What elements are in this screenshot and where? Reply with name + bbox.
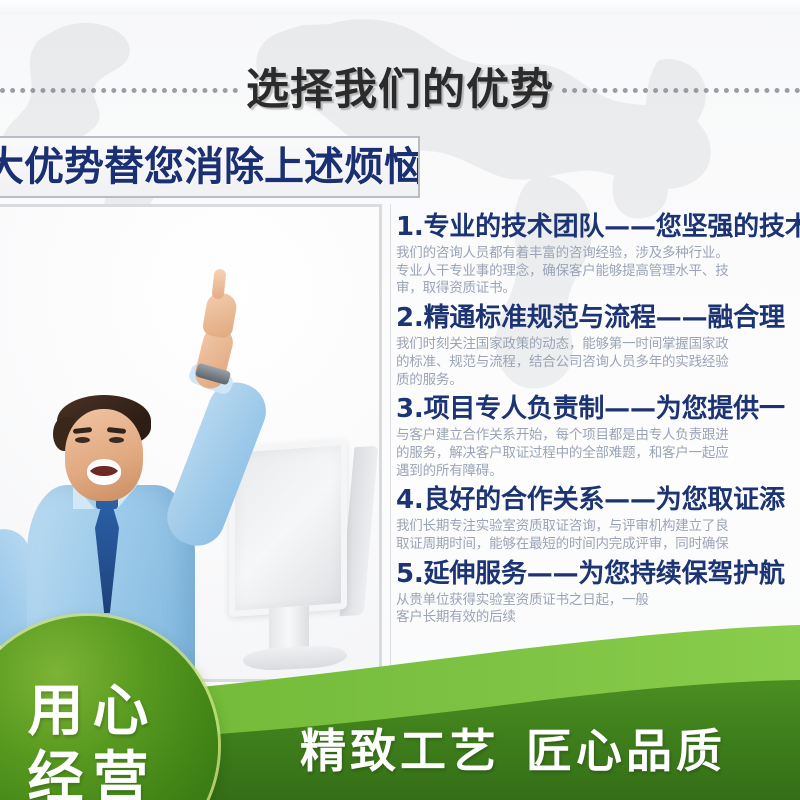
column-divider	[390, 204, 391, 682]
advantages-list: 1.专业的技术团队——您坚强的技术 我们的咨询人员都有着丰富的咨询经验，涉及多种…	[396, 212, 800, 682]
advantage-body: 我们时刻关注国家政策的动态，能够第一时间掌握国家政 的标准、规范与流程，结合公司…	[396, 336, 800, 389]
advantage-heading: 4.良好的合作关系——为您取证添	[396, 485, 800, 517]
list-item: 2.精通标准规范与流程——融合理 我们时刻关注国家政策的动态，能够第一时间掌握国…	[396, 303, 800, 389]
poster-canvas: 选择我们的优势 大优势替您消除上述烦恼	[0, 0, 800, 800]
top-sheen	[0, 0, 800, 14]
header-rule-left	[0, 88, 238, 93]
list-item: 3.项目专人负责制——为您提供一 与客户建立合作关系开始，每个项目都是由专人负责…	[396, 394, 800, 480]
list-item: 5.延伸服务——为您持续保驾护航 从贵单位获得实验室资质证书之日起，一般 客户长…	[396, 559, 800, 627]
list-item: 4.良好的合作关系——为您取证添 我们长期专注实验室资质取证咨询，与评审机构建立…	[396, 485, 800, 553]
slogan-left: 精致工艺	[300, 728, 500, 774]
slogan-right: 匠心品质	[526, 728, 726, 774]
advantage-body: 从贵单位获得实验室资质证书之日起，一般 客户长期有效的后续	[396, 592, 800, 628]
advantage-heading: 3.项目专人负责制——为您提供一	[396, 394, 800, 426]
advantage-heading: 1.专业的技术团队——您坚强的技术	[396, 212, 800, 244]
footer-slogan: 精致工艺 匠心品质	[300, 716, 800, 786]
badge-line-2: 经营	[28, 748, 158, 800]
advantage-heading: 5.延伸服务——为您持续保驾护航	[396, 559, 800, 591]
advantage-body: 我们的咨询人员都有着丰富的咨询经验，涉及多种行业。 专业人干专业事的理念，确保客…	[396, 245, 800, 298]
section-header: 选择我们的优势	[0, 55, 800, 125]
header-rule-right	[562, 88, 800, 93]
subheadline-box: 大优势替您消除上述烦恼	[0, 136, 420, 198]
advantage-body: 我们长期专注实验室资质取证咨询，与评审机构建立了良 取证周期时间，能够在最短的时…	[396, 518, 800, 554]
subheadline-text: 大优势替您消除上述烦恼	[0, 147, 420, 187]
advantage-heading: 2.精通标准规范与流程——融合理	[396, 303, 800, 335]
page-title: 选择我们的优势	[244, 69, 556, 112]
badge-line-1: 用心	[28, 681, 158, 744]
advantage-body: 与客户建立合作关系开始，每个项目都是由专人负责跟进 的服务，解决客户取证过程中的…	[396, 427, 800, 480]
celebrating-businessman-photo	[0, 207, 379, 679]
photo-frame	[0, 204, 382, 682]
list-item: 1.专业的技术团队——您坚强的技术 我们的咨询人员都有着丰富的咨询经验，涉及多种…	[396, 212, 800, 298]
